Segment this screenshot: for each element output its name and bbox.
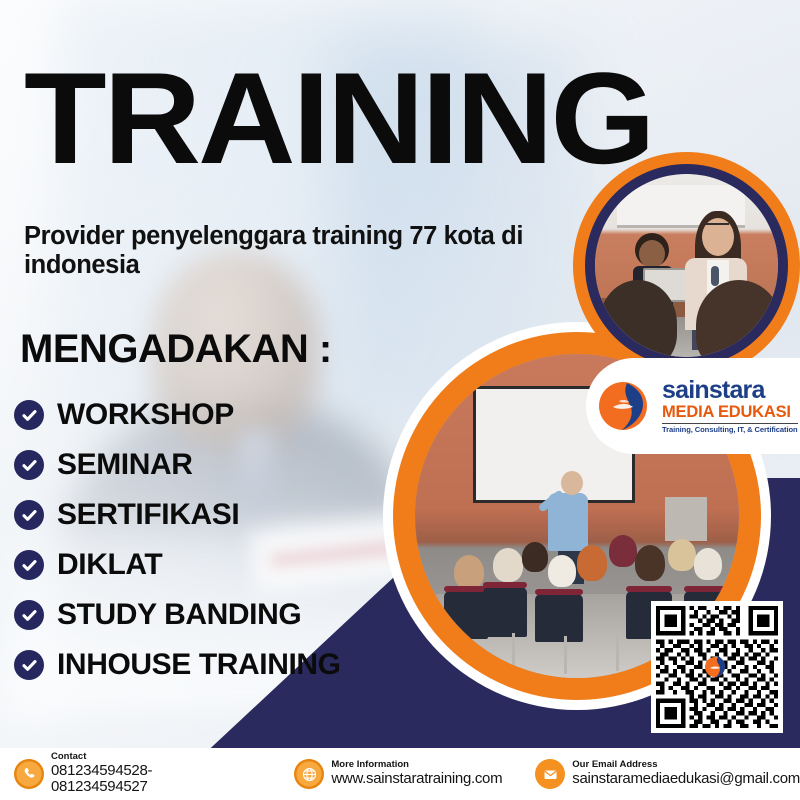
qr-code-icon[interactable] (651, 601, 783, 733)
audience-chair (444, 591, 488, 639)
footer-contact-bar: Contact 081234594528-081234594527 More I… (0, 748, 800, 800)
training-poster: sainstara MEDIA EDUKASI Training, Consul… (0, 0, 800, 800)
chair-leg (512, 633, 515, 673)
page-title: TRAINING (24, 63, 652, 175)
section-title: MENGADAKAN : (20, 327, 332, 372)
service-list: WORKSHOP SEMINAR SERTIFIKASI DIKLAT STUD… (14, 390, 444, 690)
service-label: SEMINAR (57, 448, 193, 482)
phone-icon (14, 759, 44, 789)
check-circle-icon (14, 650, 44, 680)
foreground-head-left (599, 280, 677, 357)
audience-head (635, 545, 665, 581)
navy-photo-ring (585, 164, 788, 367)
audience-chair (535, 594, 583, 642)
chair-leg (564, 636, 567, 674)
seated-person-head (639, 240, 665, 268)
audience-head (609, 535, 637, 567)
service-label: STUDY BANDING (57, 598, 301, 632)
check-circle-icon (14, 500, 44, 530)
page-subtitle: Provider penyelenggara training 77 kota … (24, 222, 524, 279)
audience-head (454, 555, 484, 589)
audience-head (694, 548, 722, 580)
brand-name: sainstara (662, 378, 798, 403)
check-circle-icon (14, 450, 44, 480)
check-circle-icon (14, 600, 44, 630)
service-label: WORKSHOP (57, 398, 234, 432)
footer-email-value: sainstaramediaedukasi@gmail.com (572, 771, 800, 788)
footer-website-value: www.sainstaratraining.com (331, 771, 502, 788)
chair-leg (616, 633, 619, 671)
footer-contact-label: Contact (51, 752, 248, 763)
service-label: INHOUSE TRAINING (57, 648, 341, 682)
microphone-icon (711, 266, 719, 286)
sainstara-flame-logo-icon (704, 654, 730, 680)
footer-website-item[interactable]: More Information www.sainstaratraining.c… (294, 759, 502, 789)
footer-contact-item[interactable]: Contact 081234594528-081234594527 (14, 752, 248, 796)
hero-podium (665, 497, 707, 541)
woman-presenter-photo (595, 174, 778, 357)
envelope-icon (535, 759, 565, 789)
brand-tagline: Training, Consulting, IT, & Certificatio… (662, 426, 798, 434)
audience-head (577, 545, 607, 581)
brand-logo-text: sainstara MEDIA EDUKASI Training, Consul… (662, 378, 798, 434)
audience-head (493, 548, 523, 582)
service-label: SERTIFIKASI (57, 498, 239, 532)
audience-head (522, 542, 548, 572)
list-item: WORKSHOP (14, 390, 444, 440)
hero-speaker-head (561, 471, 583, 495)
brand-logo-badge: sainstara MEDIA EDUKASI Training, Consul… (586, 358, 800, 454)
list-item: INHOUSE TRAINING (14, 640, 444, 690)
check-circle-icon (14, 550, 44, 580)
footer-contact-value: 081234594528-081234594527 (51, 763, 248, 797)
sainstara-flame-logo-icon (597, 377, 655, 435)
check-circle-icon (14, 400, 44, 430)
list-item: SERTIFIKASI (14, 490, 444, 540)
list-item: STUDY BANDING (14, 590, 444, 640)
audience-head (668, 539, 696, 571)
list-item: SEMINAR (14, 440, 444, 490)
list-item: DIKLAT (14, 540, 444, 590)
audience-head (548, 555, 576, 587)
footer-email-item[interactable]: Our Email Address sainstaramediaedukasi@… (535, 759, 800, 789)
brand-subtitle: MEDIA EDUKASI (662, 404, 798, 424)
glasses-icon (705, 223, 729, 232)
chair-leg (460, 633, 463, 673)
audience-chair (483, 587, 527, 637)
service-label: DIKLAT (57, 548, 162, 582)
globe-icon (294, 759, 324, 789)
